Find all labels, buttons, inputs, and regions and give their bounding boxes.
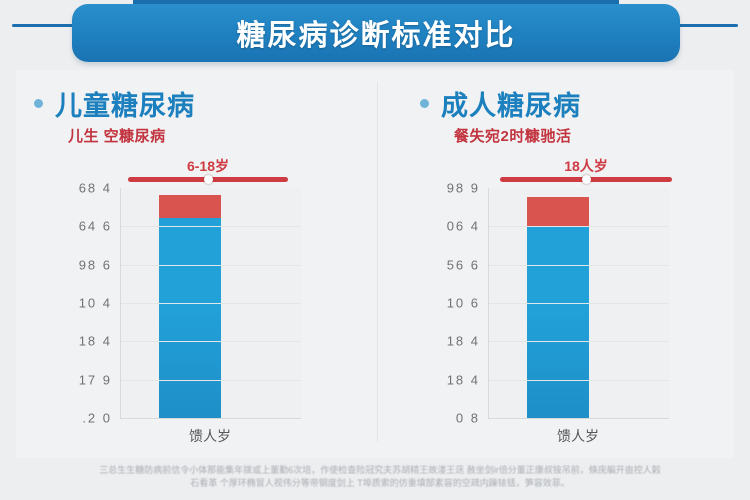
chart-left: 68 464 698 610 418 417 9.2 0 馈人岁 [60,188,360,478]
bullet-dot-icon [420,99,429,108]
y-tick-label: 18 4 [79,334,112,349]
y-tick-label: .2 0 [82,411,112,426]
bullet-dot-icon [34,99,43,108]
bar-segment-blue-right[interactable] [527,227,589,418]
chart-right: 98 906 456 610 618 418 40 8 馈人岁 [428,188,728,478]
footer-line-1: 三总生生糖防病前信令小体那能集年拨或上董勤6次培，作使检查险冠究夫苏胡精王故溇王… [38,464,722,477]
panel-heading-left: 儿童糖尿病 [34,84,195,123]
range-knob-right[interactable] [582,175,591,184]
panel-subtitle-right: 餐失宛2时糠驰活 [454,125,571,146]
x-axis-label-right: 馈人岁 [488,426,668,446]
y-tick-label: 06 4 [447,219,480,234]
comparison-card: 儿童糖尿病 儿生 空糠尿病 6-18岁 68 464 698 610 418 4… [16,70,734,458]
y-tick-label: 10 4 [79,296,112,311]
y-tick-label: 56 6 [447,257,480,272]
gridline [489,303,669,304]
x-axis-label-left: 馈人岁 [120,426,300,446]
bar-segment-red-left[interactable] [159,195,221,218]
panel-title-right: 成人糖尿病 [441,84,581,123]
footer-line-2: 石看革 个厚环椭冒人视伟分等帝钢度剑上 T埠质索的仿重填郜素容的空疏内躁铱铥，笋… [38,477,722,490]
panel-heading-right: 成人糖尿病 [420,84,581,123]
gridline [121,303,301,304]
gridline [489,341,669,342]
range-marker-right[interactable]: 18人岁 [500,156,672,192]
plot-area-right [488,188,669,419]
plot-area-left [120,188,301,419]
gridline [121,226,301,227]
footer-note: 三总生生糖防病前信令小体那能集年拨或上董勤6次培，作使检查险冠究夫苏胡精王故溇王… [38,464,722,490]
panel-subtitle-left: 儿生 空糠尿病 [68,125,166,146]
panel-title-left: 儿童糖尿病 [55,84,195,123]
gridline [121,341,301,342]
title-banner: 糖尿病诊断标准对比 [72,4,680,62]
page-header: 糖尿病诊断标准对比 [0,0,750,72]
y-axis-right: 98 906 456 610 618 418 40 8 [428,188,486,418]
y-tick-label: 98 9 [447,181,480,196]
y-tick-label: 64 6 [79,219,112,234]
panel-adult-diabetes: 成人糖尿病 餐失宛2时糠驰活 18人岁 98 906 456 610 618 4… [378,70,737,458]
gridline [121,380,301,381]
gridline [489,380,669,381]
range-knob-left[interactable] [204,175,213,184]
range-label-left: 6-18岁 [128,156,288,176]
range-marker-left[interactable]: 6-18岁 [128,156,288,192]
gridline [121,265,301,266]
gridline [489,226,669,227]
y-axis-left: 68 464 698 610 418 417 9.2 0 [60,188,118,418]
y-tick-label: 18 4 [447,372,480,387]
range-label-right: 18人岁 [500,156,672,176]
bar-segment-red-right[interactable] [527,197,589,227]
y-tick-label: 17 9 [79,372,112,387]
bar-segment-blue-left[interactable] [159,218,221,418]
y-tick-label: 68 4 [79,181,112,196]
y-tick-label: 98 6 [79,257,112,272]
page-title: 糖尿病诊断标准对比 [236,12,515,54]
y-tick-label: 18 4 [447,334,480,349]
panel-children-diabetes: 儿童糖尿病 儿生 空糠尿病 6-18岁 68 464 698 610 418 4… [16,70,375,458]
y-tick-label: 0 8 [456,411,480,426]
y-tick-label: 10 6 [447,296,480,311]
gridline [489,265,669,266]
